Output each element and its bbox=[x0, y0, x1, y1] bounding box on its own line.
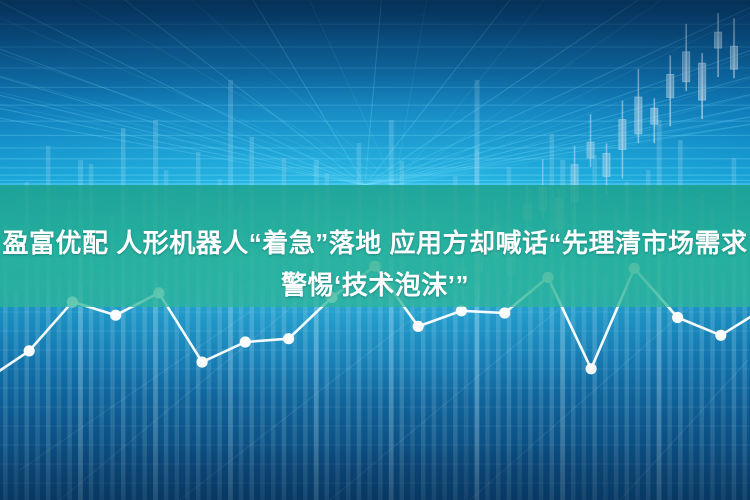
headline: 盈富优配 人形机器人“着急”落地 应用方却喊话“先理清市场需求 警惕‘技术泡沫’… bbox=[0, 222, 750, 306]
headline-line-1: 盈富优配 人形机器人“着急”落地 应用方却喊话“先理清市场需求 bbox=[0, 222, 750, 264]
headline-line-2: 警惕‘技术泡沫’” bbox=[0, 264, 750, 306]
banner-image: 盈富优配 人形机器人“着急”落地 应用方却喊话“先理清市场需求 警惕‘技术泡沫’… bbox=[0, 0, 750, 500]
